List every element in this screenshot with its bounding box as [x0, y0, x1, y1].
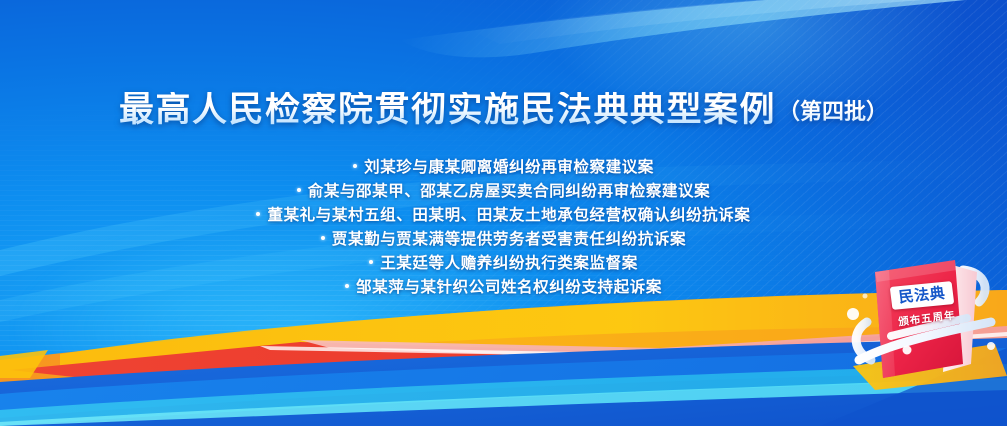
case-title: 刘某珍与康某卿离婚纠纷再审检察建议案	[364, 159, 654, 176]
bullet-dot-icon	[369, 260, 373, 264]
case-title: 邹某萍与某针织公司姓名权纠纷支持起诉案	[356, 279, 662, 296]
bullet-dot-icon	[345, 284, 349, 288]
list-item[interactable]: 俞某与邵某甲、邵某乙房屋买卖合同纠纷再审检察建议案	[0, 180, 1007, 204]
case-title: 俞某与邵某甲、邵某乙房屋买卖合同纠纷再审检察建议案	[308, 183, 711, 200]
bullet-dot-icon	[256, 212, 260, 216]
book-cover-label-text: 民法典	[898, 286, 946, 305]
banner-title: 最高人民检察院贯彻实施民法典典型案例（第四批）	[0, 92, 1007, 127]
page-title: 最高人民检察院贯彻实施民法典典型案例	[119, 92, 776, 127]
case-title: 董某礼与某村五组、田某明、田某友土地承包经营权确认纠纷抗诉案	[267, 207, 750, 224]
civil-code-book-graphic: 民法典 颁布五周年	[845, 248, 1007, 398]
list-item[interactable]: 刘某珍与康某卿离婚纠纷再审检察建议案	[0, 156, 1007, 180]
list-item[interactable]: 董某礼与某村五组、田某明、田某友土地承包经营权确认纠纷抗诉案	[0, 204, 1007, 228]
bullet-dot-icon	[297, 188, 301, 192]
title-batch-label: （第四批）	[778, 94, 888, 126]
bullet-dot-icon	[321, 236, 325, 240]
case-title: 贾某勤与贾某满等提供劳务者受害责任纠纷抗诉案	[332, 231, 686, 248]
promo-banner: 最高人民检察院贯彻实施民法典典型案例（第四批） 刘某珍与康某卿离婚纠纷再审检察建…	[0, 0, 1007, 426]
case-title: 王某廷等人赡养纠纷执行类案监督案	[380, 255, 638, 272]
bullet-dot-icon	[353, 164, 357, 168]
